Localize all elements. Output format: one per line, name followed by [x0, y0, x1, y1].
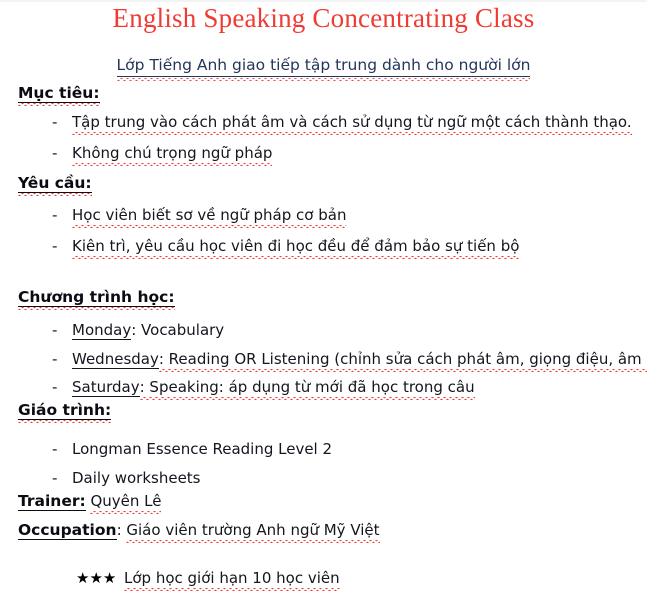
list-item-text: Tập trung vào cách phát âm và cách sử dụ… [72, 113, 632, 131]
schedule-detail-saturday: : Speaking: áp dụng từ mới đã học trong … [140, 378, 475, 396]
list-item-text: Daily worksheets [72, 469, 201, 487]
schedule-row-monday: Monday: Vocabulary [72, 321, 224, 340]
bullet-dash: - [52, 378, 57, 396]
schedule-row-wednesday: Wednesday: Reading OR Listening (chỉnh s… [72, 350, 647, 369]
detail-value-trainer: Quyên Lê [90, 492, 161, 510]
bullet-dash: - [52, 113, 57, 131]
list-item: Longman Essence Reading Level 2 [72, 440, 332, 458]
schedule-day-saturday: Saturday [72, 378, 140, 397]
schedule-day-wednesday: Wednesday [72, 350, 159, 369]
list-item-text: Học viên biết sơ về ngữ pháp cơ bản [72, 206, 346, 224]
schedule-detail-wednesday: : Reading OR Listening (chỉnh sửa cách p… [159, 350, 647, 368]
section-heading-muc-tieu-text: Mục tiêu: [18, 84, 100, 103]
detail-label-occupation: Occupation [18, 521, 117, 539]
section-heading-giao-trinh: Giáo trình: [18, 401, 111, 420]
list-item: Kiên trì, yêu cầu học viên đi học đều để… [72, 237, 519, 255]
list-item-text: Kiên trì, yêu cầu học viên đi học đều để… [72, 237, 519, 255]
detail-row-trainer: Trainer: Quyên Lê [18, 492, 161, 511]
document-page: English Speaking Concentrating Class Lớp… [0, 0, 647, 598]
bullet-dash: - [52, 206, 57, 224]
list-item: Tập trung vào cách phát âm và cách sử dụ… [72, 113, 632, 131]
schedule-row-saturday: Saturday: Speaking: áp dụng từ mới đã họ… [72, 378, 475, 397]
section-heading-chuong-trinh-hoc-text: Chương trình học: [18, 288, 175, 307]
list-item: Học viên biết sơ về ngữ pháp cơ bản [72, 206, 346, 224]
schedule-detail-monday: : Vocabulary [131, 321, 224, 339]
bullet-dash: - [52, 237, 57, 255]
page-subtitle-text: Lớp Tiếng Anh giao tiếp tập trung dành c… [117, 55, 531, 77]
section-heading-yeu-cau: Yêu cầu: [18, 174, 92, 193]
bullet-dash: - [52, 350, 57, 368]
list-item-text: Không chú trọng ngữ pháp [72, 144, 272, 162]
bullet-dash: - [52, 144, 57, 162]
page-subtitle: Lớp Tiếng Anh giao tiếp tập trung dành c… [0, 55, 647, 77]
detail-value-occupation: Giáo viên trường Anh ngữ Mỹ Việt [126, 521, 379, 539]
list-item-text: Longman Essence Reading Level 2 [72, 440, 332, 458]
list-item: Không chú trọng ngữ pháp [72, 144, 272, 162]
footnote-text-row: Lớp học giới hạn 10 học viên [124, 569, 340, 587]
detail-row-occupation: Occupation: Giáo viên trường Anh ngữ Mỹ … [18, 521, 380, 540]
bullet-dash: - [52, 469, 57, 487]
star-rating-icon: ★★★ [76, 569, 116, 587]
footnote-text: Lớp học giới hạn 10 học viên [124, 569, 340, 587]
section-heading-giao-trinh-text: Giáo trình: [18, 401, 111, 420]
section-heading-yeu-cau-text: Yêu cầu: [18, 174, 92, 193]
list-item: Daily worksheets [72, 469, 201, 487]
detail-label-trainer-text: Trainer: [18, 492, 86, 511]
bullet-dash: - [52, 321, 57, 339]
schedule-day-monday: Monday [72, 321, 131, 340]
section-heading-chuong-trinh-hoc: Chương trình học: [18, 288, 175, 307]
detail-label-trainer: Trainer: [18, 492, 86, 510]
section-heading-muc-tieu: Mục tiêu: [18, 84, 100, 103]
page-title: English Speaking Concentrating Class [0, 2, 647, 34]
bullet-dash: - [52, 440, 57, 458]
detail-separator-occupation: : [117, 521, 127, 539]
detail-label-occupation-text: Occupation [18, 521, 117, 540]
